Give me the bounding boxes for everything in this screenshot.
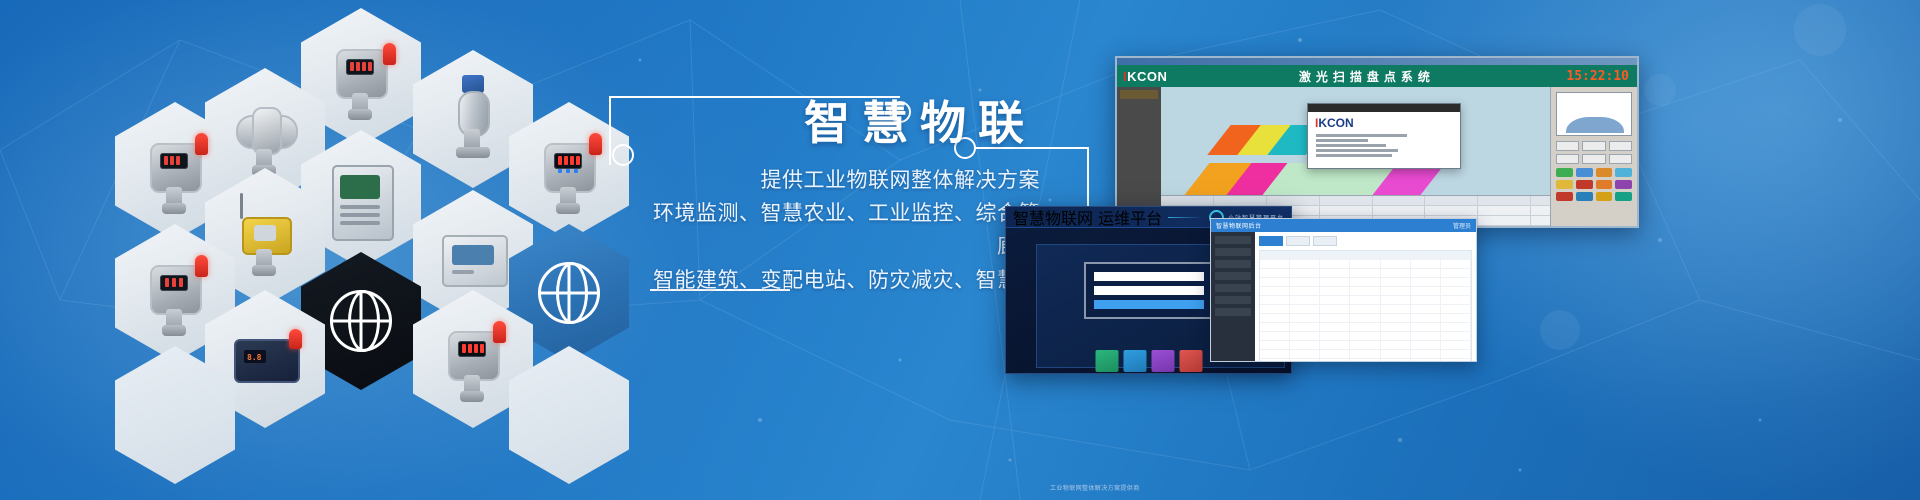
- feature-tile[interactable]: [1123, 350, 1146, 372]
- tool-button[interactable]: [1582, 141, 1605, 151]
- tool-icon[interactable]: [1615, 192, 1632, 201]
- app-header: IKCON 激光扫描盘点系统 15:22:10: [1117, 65, 1637, 87]
- sidebar-item[interactable]: [1215, 296, 1251, 304]
- grid-header-row: [1260, 251, 1471, 260]
- grid-row[interactable]: [1260, 278, 1471, 287]
- admin-body: [1211, 232, 1476, 361]
- right-tool-panel[interactable]: [1550, 87, 1637, 226]
- topbar-divider: [1168, 217, 1203, 218]
- grid-row[interactable]: [1260, 314, 1471, 323]
- tool-button-row[interactable]: [1556, 141, 1632, 151]
- feature-tile[interactable]: [1151, 350, 1174, 372]
- tool-icon[interactable]: [1576, 180, 1593, 189]
- ikcon-logo: IKCON: [1117, 69, 1167, 84]
- dialog-text-line: [1316, 139, 1368, 142]
- dashboard-breadcrumb: 智慧物联网 运维平台: [1013, 206, 1162, 229]
- feature-tile[interactable]: [1095, 350, 1118, 372]
- tool-button-row[interactable]: [1556, 154, 1632, 164]
- sidebar-item[interactable]: [1215, 272, 1251, 280]
- dialog-logo-rest: KCON: [1318, 116, 1353, 130]
- chart-area-shape: [1566, 117, 1624, 133]
- sidebar-item[interactable]: [1215, 284, 1251, 292]
- copy-block: 智慧物联 提供工业物联网整体解决方案 环境监测、智慧农业、工业监控、综合管廊、 …: [640, 100, 1040, 330]
- tool-icon[interactable]: [1615, 168, 1632, 177]
- admin-data-grid[interactable]: [1259, 250, 1472, 362]
- tool-icon[interactable]: [1576, 168, 1593, 177]
- admin-sidebar[interactable]: [1211, 232, 1255, 361]
- tool-icon[interactable]: [1615, 180, 1632, 189]
- page-title: 智慧物联: [640, 100, 1040, 146]
- grid-row[interactable]: [1260, 332, 1471, 341]
- admin-main: [1255, 232, 1476, 361]
- feature-tile-row[interactable]: [1095, 350, 1202, 372]
- dialog-text-line: [1316, 144, 1386, 147]
- clock-display: 15:22:10: [1566, 69, 1637, 84]
- tool-icon[interactable]: [1596, 192, 1613, 201]
- dialog-text-line: [1316, 134, 1407, 137]
- username-input[interactable]: [1094, 272, 1204, 281]
- tool-icon[interactable]: [1596, 180, 1613, 189]
- tool-button[interactable]: [1556, 154, 1579, 164]
- tool-icon-grid[interactable]: [1556, 168, 1632, 201]
- grid-row[interactable]: [1260, 341, 1471, 350]
- laser-scan-app-window[interactable]: IKCON 激光扫描盘点系统 15:22:10 IKCON: [1115, 56, 1639, 228]
- logo-rest: KCON: [1127, 69, 1167, 84]
- login-form[interactable]: [1084, 262, 1214, 319]
- export-button[interactable]: [1313, 236, 1337, 246]
- sidebar-item[interactable]: [1215, 260, 1251, 268]
- login-submit-button[interactable]: [1094, 300, 1204, 309]
- sidebar-item[interactable]: [1215, 248, 1251, 256]
- tool-button[interactable]: [1582, 154, 1605, 164]
- admin-header: 智慧物联网后台 管理员: [1211, 219, 1476, 232]
- tool-icon[interactable]: [1556, 168, 1573, 177]
- iot-solution-banner: 8.8 智慧物联 提供工业物联网整体解决方案: [0, 0, 1920, 500]
- subtitle-line-3: 智能建筑、变配电站、防灾减灾、智慧交通: [640, 264, 1040, 330]
- tool-button[interactable]: [1609, 154, 1632, 164]
- grid-row[interactable]: [1260, 350, 1471, 359]
- inventory-trend-chart: [1556, 92, 1632, 136]
- add-button[interactable]: [1286, 236, 1310, 246]
- about-dialog[interactable]: IKCON: [1307, 103, 1461, 169]
- tool-button[interactable]: [1609, 141, 1632, 151]
- sidebar-item[interactable]: [1215, 236, 1251, 244]
- grid-row[interactable]: [1260, 323, 1471, 332]
- grid-row[interactable]: [1260, 359, 1471, 362]
- subtitle-line-2: 环境监测、智慧农业、工业监控、综合管廊、: [640, 197, 1040, 263]
- subtitle-line-1: 提供工业物联网整体解决方案: [640, 164, 1040, 197]
- window-titlebar: [1117, 58, 1637, 65]
- admin-toolbar[interactable]: [1259, 236, 1472, 246]
- grid-row[interactable]: [1260, 287, 1471, 296]
- admin-title: 智慧物联网后台: [1216, 221, 1262, 230]
- tool-icon[interactable]: [1596, 168, 1613, 177]
- connector-node-icon: [613, 145, 633, 165]
- grid-row[interactable]: [1260, 269, 1471, 278]
- nav-item[interactable]: [1120, 90, 1158, 99]
- footer-caption: 工业物联网整体解决方案提供商: [1050, 483, 1140, 492]
- tool-button[interactable]: [1556, 141, 1579, 151]
- password-input[interactable]: [1094, 286, 1204, 295]
- dialog-text-line: [1316, 154, 1392, 157]
- grid-row[interactable]: [1260, 296, 1471, 305]
- dialog-logo: IKCON: [1308, 112, 1460, 132]
- admin-table-window[interactable]: 智慧物联网后台 管理员: [1210, 218, 1477, 362]
- tool-icon[interactable]: [1556, 192, 1573, 201]
- tool-icon[interactable]: [1576, 192, 1593, 201]
- feature-tile[interactable]: [1179, 350, 1202, 372]
- query-button[interactable]: [1259, 236, 1283, 246]
- dialog-text-line: [1316, 149, 1398, 152]
- dialog-titlebar: [1308, 104, 1460, 112]
- sidebar-item[interactable]: [1215, 308, 1251, 316]
- grid-row[interactable]: [1260, 305, 1471, 314]
- admin-user: 管理员: [1453, 221, 1471, 230]
- app-title: 激光扫描盘点系统: [1167, 68, 1566, 85]
- tool-icon[interactable]: [1556, 180, 1573, 189]
- grid-row[interactable]: [1260, 260, 1471, 269]
